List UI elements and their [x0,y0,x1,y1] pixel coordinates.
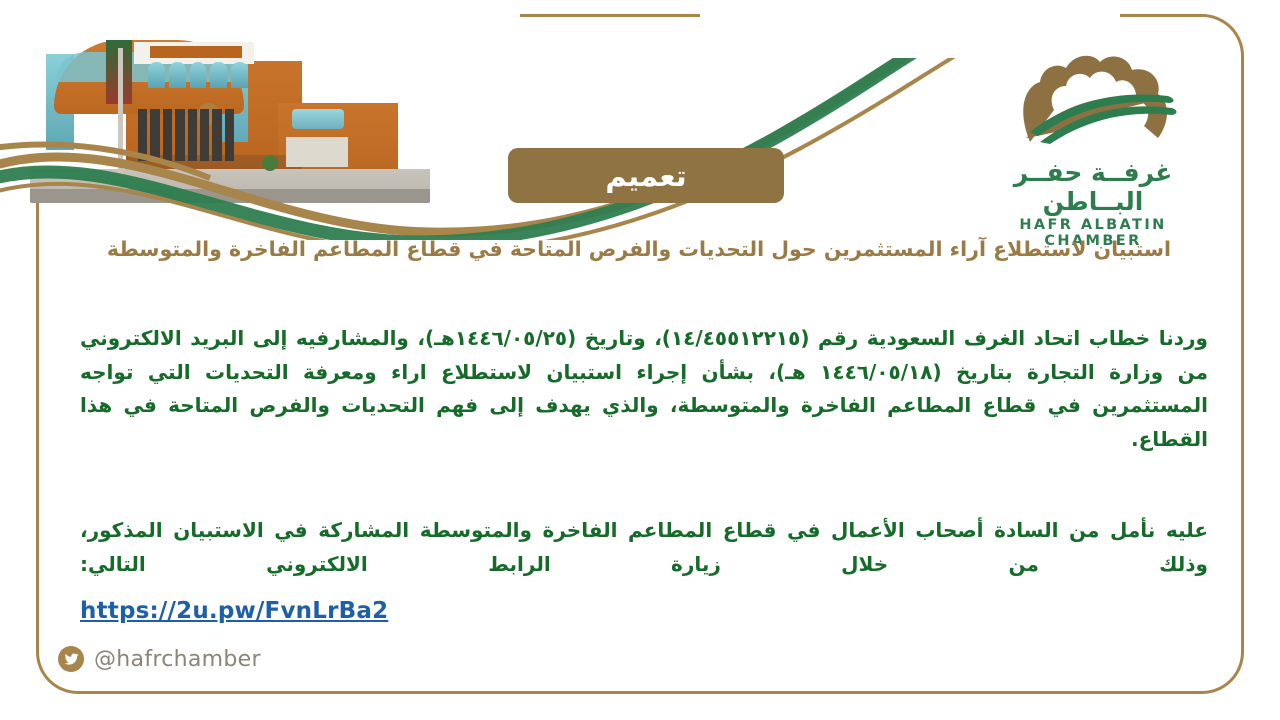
body-paragraph-2-text: عليه نأمل من السادة أصحاب الأعمال في قطا… [80,514,1208,581]
survey-link-row: https://2u.pw/FvnLrBa2 [80,598,1202,624]
body-paragraph-2: عليه نأمل من السادة أصحاب الأعمال في قطا… [80,494,1208,601]
twitter-handle[interactable]: @hafrchamber [94,647,261,672]
chamber-logo: غرفــة حفــر البــاطن HAFR ALBATIN CHAMB… [968,46,1218,249]
survey-link[interactable]: https://2u.pw/FvnLrBa2 [80,598,388,624]
chamber-logo-mark [968,46,1218,152]
circular-badge: تعميم [508,148,784,203]
page-title: استبيان لاستطلاع آراء المستثمرين حول الت… [84,234,1194,266]
logo-arabic-name: غرفــة حفــر البــاطن [968,158,1218,216]
body-paragraph-1-text: وردنا خطاب اتحاد الغرف السعودية رقم (١٤/… [80,322,1208,456]
announcement-page: غرفــة حفــر البــاطن HAFR ALBATIN CHAMB… [0,0,1280,720]
social-footer[interactable]: @hafrchamber [58,646,261,672]
twitter-icon[interactable] [58,646,84,672]
body-paragraph-1: وردنا خطاب اتحاد الغرف السعودية رقم (١٤/… [80,322,1208,456]
